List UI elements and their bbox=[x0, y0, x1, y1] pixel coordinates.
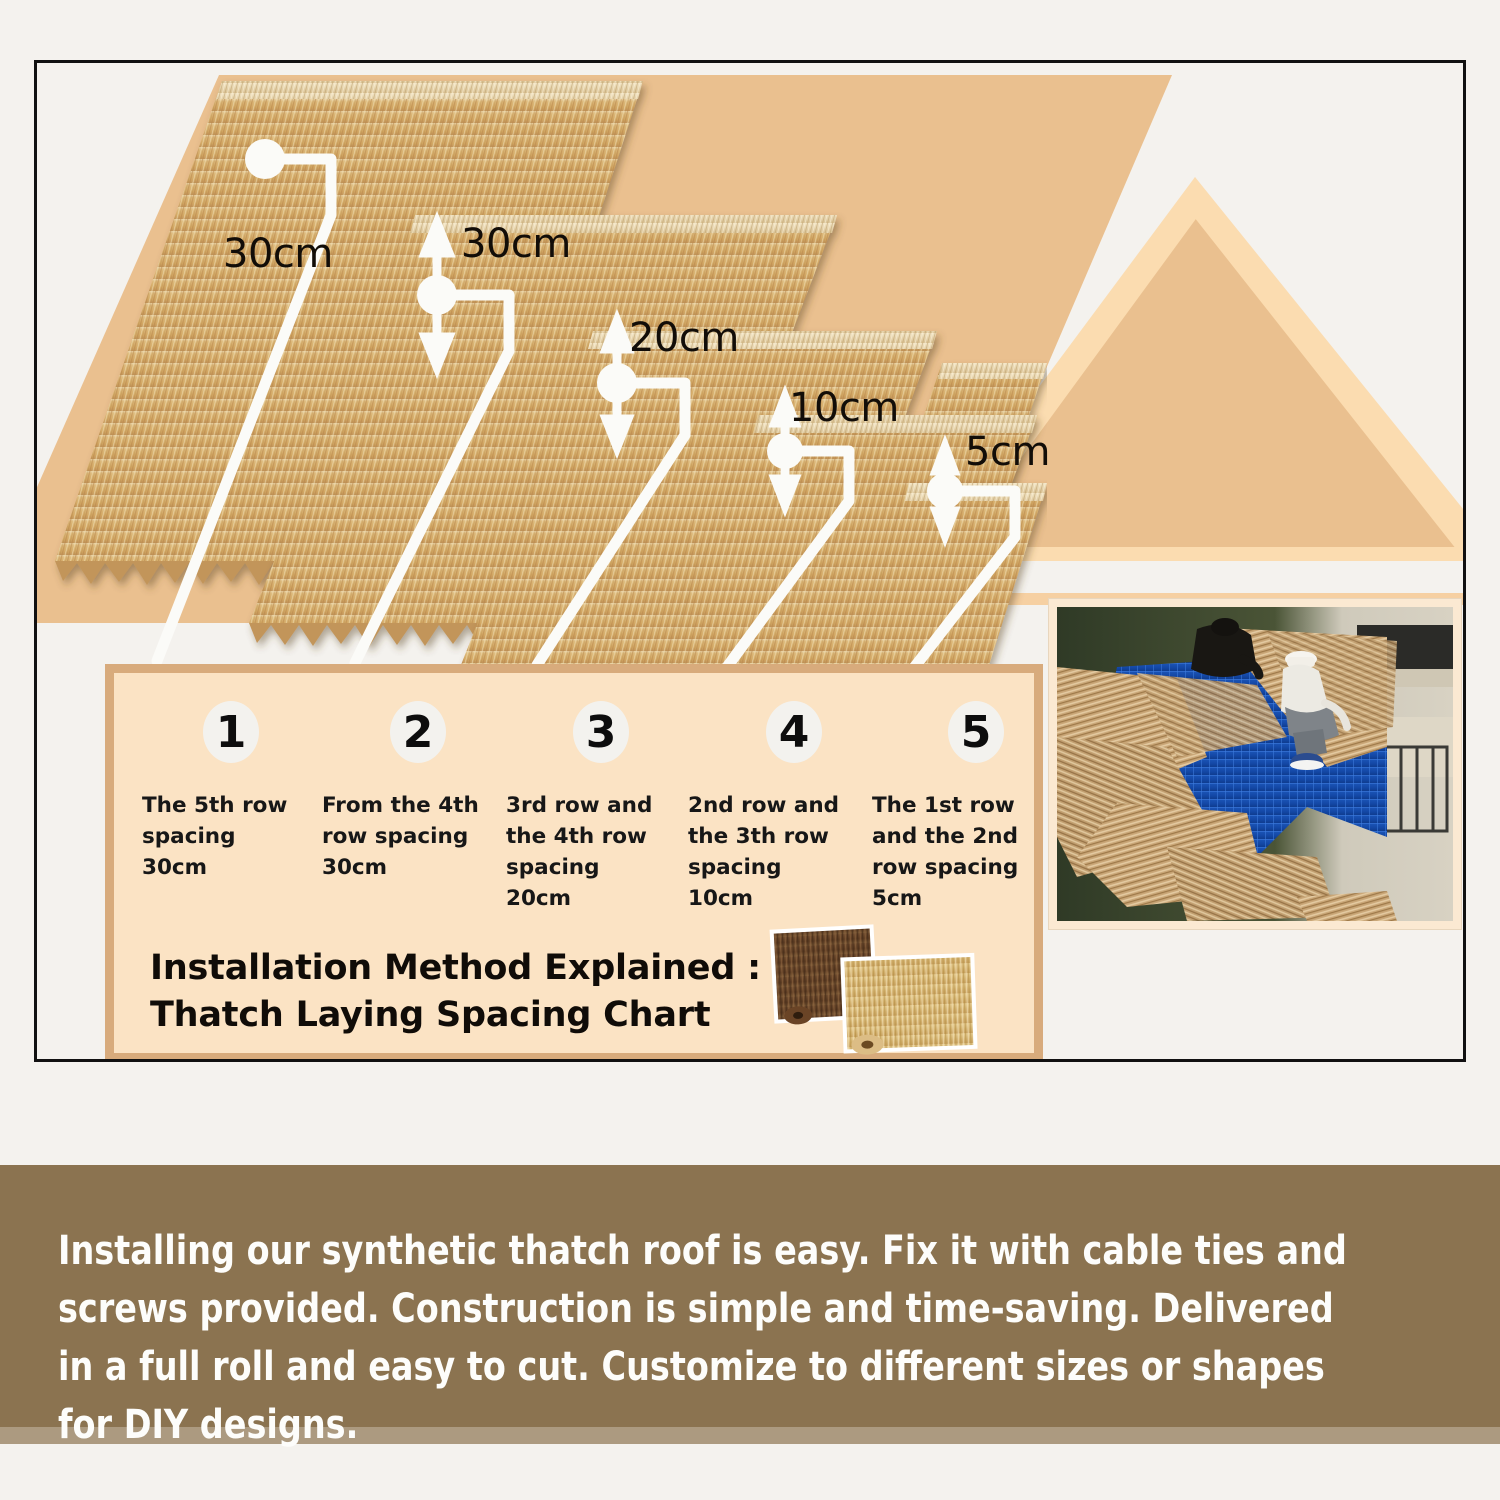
step-text-2: From the 4th row spacing 30cm bbox=[322, 791, 494, 884]
bottom-banner-text: Installing our synthetic thatch roof is … bbox=[58, 1222, 1351, 1454]
dimension-callouts bbox=[37, 63, 1047, 703]
step-text-5: The 1st row and the 2nd row spacing 5cm bbox=[872, 791, 1044, 915]
legend-title: Installation Method Explained : Thatch L… bbox=[150, 945, 761, 1039]
step-badge-2: 2 bbox=[390, 701, 446, 763]
thatch-sample-images bbox=[754, 915, 1004, 1055]
step-text-1: The 5th row spacing 30cm bbox=[142, 791, 314, 884]
dimension-label-3: 20cm bbox=[629, 315, 739, 361]
step-badge-3: 3 bbox=[573, 701, 629, 763]
step-badge-4: 4 bbox=[766, 701, 822, 763]
step-text-4: 2nd row and the 3th row spacing 10cm bbox=[688, 791, 860, 915]
house-outline-graphic bbox=[977, 175, 1466, 595]
step-text-3: 3rd row and the 4th row spacing 20cm bbox=[506, 791, 678, 915]
dimension-label-4: 10cm bbox=[789, 385, 899, 431]
legend-panel: 1 2 3 4 5 The 5th row spacing 30cm From … bbox=[105, 664, 1043, 1062]
step-badge-1: 1 bbox=[203, 701, 259, 763]
dimension-label-1: 30cm bbox=[223, 231, 333, 277]
installation-photo-frame bbox=[1049, 599, 1461, 929]
dimension-label-5: 5cm bbox=[965, 429, 1050, 475]
installation-photo bbox=[1057, 607, 1453, 921]
step-badge-5: 5 bbox=[948, 701, 1004, 763]
dimension-label-2: 30cm bbox=[461, 221, 571, 267]
page-root: 30cm 30cm 20cm 10cm 5cm 1 2 3 4 5 The 5t… bbox=[0, 0, 1500, 1500]
legend-panel-inner: 1 2 3 4 5 The 5th row spacing 30cm From … bbox=[114, 673, 1034, 1053]
diagram-card: 30cm 30cm 20cm 10cm 5cm 1 2 3 4 5 The 5t… bbox=[34, 60, 1466, 1062]
